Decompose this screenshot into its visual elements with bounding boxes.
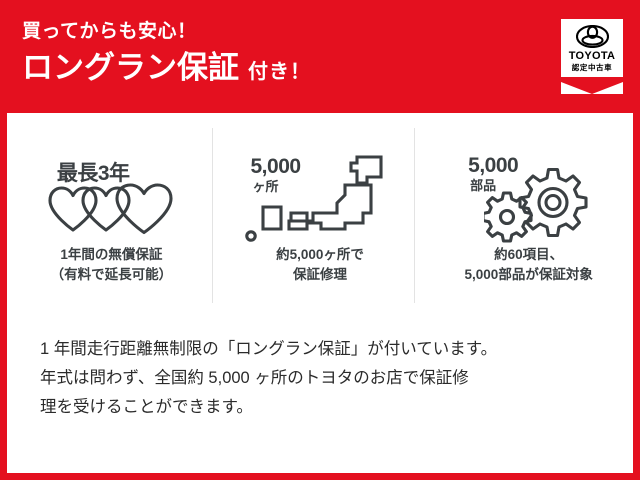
toyota-ellipse-logo: [576, 25, 609, 48]
feature-caption: 1年間の無償保証 （有料で延長可能）: [51, 245, 173, 285]
longrun-warranty-banner: 買ってからも安心！ ロングラン保証 付き！ TOYOTA 認定中古車: [0, 0, 640, 480]
feature-caption-line: （有料で延長可能）: [51, 265, 173, 285]
logo-chevron-icon: [561, 77, 623, 94]
feature-covered-parts: 5,000 部品 約60項目、 5,000部品が保証対象: [424, 143, 633, 348]
feature-caption-line: 約60項目、: [465, 245, 593, 265]
feature-columns: 最長3年 1年間の無償保証 （有料で延長可能）: [7, 143, 633, 348]
feature-caption-line: 約5,000ヶ所で: [276, 245, 364, 265]
header-title-main: ロングラン保証: [22, 50, 239, 86]
feature-service-locations: 5,000 ヶ所 約5,000ヶ所で 保証修理: [216, 143, 425, 348]
icon-area: 5,000 ヶ所: [238, 143, 403, 243]
feature-warranty-period: 最長3年 1年間の無償保証 （有料で延長可能）: [7, 143, 216, 348]
logo-subtitle: 認定中古車: [572, 63, 613, 72]
toyota-certified-logo: TOYOTA 認定中古車: [561, 19, 623, 94]
feature-caption-line: 1年間の無償保証: [51, 245, 173, 265]
feature-caption-line: 5,000部品が保証対象: [465, 265, 593, 285]
logo-wordmark: TOYOTA: [569, 50, 616, 62]
feature-metric-unit: ヶ所: [253, 179, 279, 194]
banner-header: 買ってからも安心！ ロングラン保証 付き！ TOYOTA 認定中古車: [0, 0, 640, 113]
paragraph-line: 理を受けることができます。: [40, 393, 610, 422]
headline-block: 買ってからも安心！ ロングラン保証 付き！: [22, 20, 311, 86]
feature-caption: 約5,000ヶ所で 保証修理: [276, 245, 364, 285]
feature-metric: 5,000: [251, 156, 301, 178]
icon-area: 最長3年: [29, 143, 194, 243]
feature-caption: 約60項目、 5,000部品が保証対象: [465, 245, 593, 285]
header-title-row: ロングラン保証 付き！: [22, 50, 311, 86]
icon-area: 5,000 部品: [446, 143, 611, 243]
feature-caption-line: 保証修理: [276, 265, 364, 285]
three-hearts-icon: [45, 183, 179, 235]
header-kicker: 買ってからも安心！: [22, 20, 311, 44]
feature-metric-unit: 部品: [470, 178, 496, 193]
description-paragraph: 1 年間走行距離無制限の「ロングラン保証」が付いています。 年式は問わず、全国約…: [40, 335, 610, 422]
banner-body: 最長3年 1年間の無償保証 （有料で延長可能）: [7, 113, 633, 473]
paragraph-line: 1 年間走行距離無制限の「ロングラン保証」が付いています。: [40, 335, 610, 364]
logo-inner: TOYOTA 認定中古車: [561, 19, 623, 94]
header-title-suffix: 付き！: [248, 55, 311, 84]
gears-icon: [484, 167, 596, 243]
paragraph-line: 年式は問わず、全国約 5,000 ヶ所のトヨタのお店で保証修: [40, 364, 610, 393]
feature-metric: 5,000: [468, 155, 518, 177]
feature-metric: 最長3年: [57, 163, 130, 185]
